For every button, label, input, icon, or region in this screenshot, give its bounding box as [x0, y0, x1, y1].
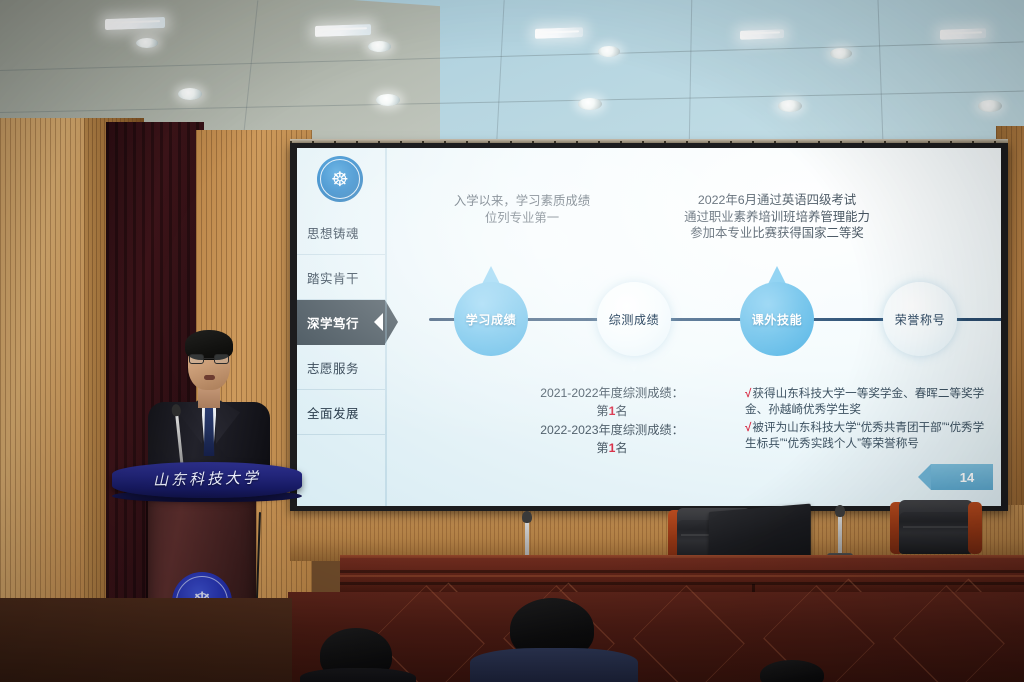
table-microphone-right: [838, 512, 842, 556]
podium-nameplate-text: 山东科技大学: [112, 466, 302, 492]
presentation-slide: ☸ 思想铸魂 踏实肯干 深学笃行 志愿服务 全面发展: [297, 148, 1001, 506]
slide-awards-right: √获得山东科技大学一等奖学金、春晖二等奖学金、孙越崎优秀学生奖 √被评为山东科技…: [745, 386, 985, 454]
ceiling-downlight: [830, 48, 852, 59]
check-mark-icon: √: [745, 387, 751, 400]
stat-rank-prefix: 第: [596, 441, 608, 455]
podium-nameplate: 山东科技大学: [112, 462, 302, 498]
glasses-icon: [189, 354, 229, 364]
university-logo: ☸: [317, 156, 363, 202]
ceiling-downlight: [178, 88, 202, 100]
table-highlight: [340, 575, 1024, 577]
sidebar-item-tashikengan[interactable]: 踏实肯干: [297, 255, 385, 300]
timeline-node-zongcechengji[interactable]: 综测成绩: [597, 282, 671, 356]
ceiling-downlight: [778, 100, 802, 112]
strip-light: [315, 24, 371, 37]
ceiling-downlight: [368, 41, 391, 52]
stat-rank-prefix: 第: [596, 404, 608, 418]
foreground-floor: [0, 598, 292, 682]
chair-backrest: [899, 500, 973, 554]
audience-shoulders-center: [470, 648, 638, 682]
strip-light: [535, 27, 583, 39]
stat-line-4: 第1名: [497, 439, 727, 457]
strip-light: [740, 29, 784, 40]
glasses-lens-left: [189, 354, 204, 364]
stat-line-2: 第1名: [497, 402, 727, 420]
strip-light: [940, 28, 986, 40]
check-mark-icon: √: [745, 421, 751, 434]
logo-glyph: ☸: [331, 170, 349, 190]
timeline-node-kewaijineng[interactable]: 课外技能: [740, 282, 814, 356]
sidebar-divider: [385, 148, 387, 506]
table-molding: [340, 570, 1024, 573]
sidebar-item-label: 志愿服务: [307, 358, 359, 377]
chair-armrest: [968, 502, 982, 554]
ceiling-downlight: [598, 46, 620, 57]
stat-rank-suffix: 名: [615, 404, 627, 418]
ceiling-downlight: [376, 94, 400, 106]
microphone-head: [835, 505, 845, 517]
sidebar-item-zhiyuanfuwu[interactable]: 志愿服务: [297, 345, 385, 390]
speaker-mouth: [204, 375, 215, 380]
sidebar-item-sixiangzhuhun[interactable]: 思想铸魂: [297, 210, 385, 255]
table-microphone-left: [525, 518, 529, 558]
microphone-head: [522, 511, 532, 523]
award-item-2-text: 被评为山东科技大学“优秀共青团干部”“优秀学生标兵”“优秀实践个人”等荣誉称号: [745, 421, 984, 450]
sidebar-item-label: 全面发展: [307, 403, 359, 422]
sidebar-item-label: 踏实肯干: [307, 268, 359, 287]
slide-page-number-badge: 14: [931, 464, 993, 490]
ceiling-downlight: [136, 38, 158, 48]
strip-light: [105, 17, 165, 30]
table-molding: [340, 582, 1024, 585]
timeline-node-label: 综测成绩: [609, 311, 659, 328]
award-item-1-text: 获得山东科技大学一等奖学金、春晖二等奖学金、孙越崎优秀学生奖: [745, 387, 984, 416]
speaker-person: [148, 330, 270, 480]
audience-head-right: [760, 660, 824, 682]
sidebar-item-label: 思想铸魂: [307, 223, 359, 242]
sidebar-item-label: 深学笃行: [307, 313, 359, 332]
timeline-node-xuexichengji[interactable]: 学习成绩: [454, 282, 528, 356]
stat-line-3: 2022-2023年度综测成绩：: [497, 421, 727, 439]
ceiling-downlight: [978, 100, 1002, 112]
slide-sidebar: ☸ 思想铸魂 踏实肯干 深学笃行 志愿服务 全面发展: [297, 148, 385, 506]
award-item-2: √被评为山东科技大学“优秀共青团干部”“优秀学生标兵”“优秀实践个人”等荣誉称号: [745, 420, 985, 453]
sidebar-item-quanmianfazhan[interactable]: 全面发展: [297, 390, 385, 435]
timeline-node-label: 荣誉称号: [895, 311, 945, 328]
slide-stats-left: 2021-2022年度综测成绩： 第1名 2022-2023年度综测成绩： 第1…: [497, 384, 727, 457]
stat-rank-suffix: 名: [615, 441, 627, 455]
stat-line-1: 2021-2022年度综测成绩：: [497, 384, 727, 402]
audience-shoulders-left: [300, 668, 416, 682]
slide-headline-right: 2022年6月通过英语四级考试 通过职业素养培训班培养管理能力 参加本专业比赛获…: [627, 192, 927, 242]
slide-headline-left: 入学以来，学习素质成绩 位列专业第一: [417, 193, 627, 226]
conference-chair-right: [890, 500, 982, 556]
glasses-lens-right: [214, 354, 229, 364]
award-item-1: √获得山东科技大学一等奖学金、春晖二等奖学金、孙越崎优秀学生奖: [745, 386, 985, 419]
timeline-node-label: 课外技能: [752, 311, 802, 328]
lecture-hall-photo: ☸ 思想铸魂 踏实肯干 深学笃行 志愿服务 全面发展: [0, 0, 1024, 682]
slide-sidebar-menu: 思想铸魂 踏实肯干 深学笃行 志愿服务 全面发展: [297, 210, 385, 435]
glasses-bridge: [204, 358, 214, 359]
ceiling-downlight: [578, 98, 602, 110]
timeline-node-label: 学习成绩: [466, 311, 516, 328]
sidebar-item-shenxuedugxing-active[interactable]: 深学笃行: [297, 300, 385, 345]
timeline-node-rongyuchenghao[interactable]: 荣誉称号: [883, 282, 957, 356]
